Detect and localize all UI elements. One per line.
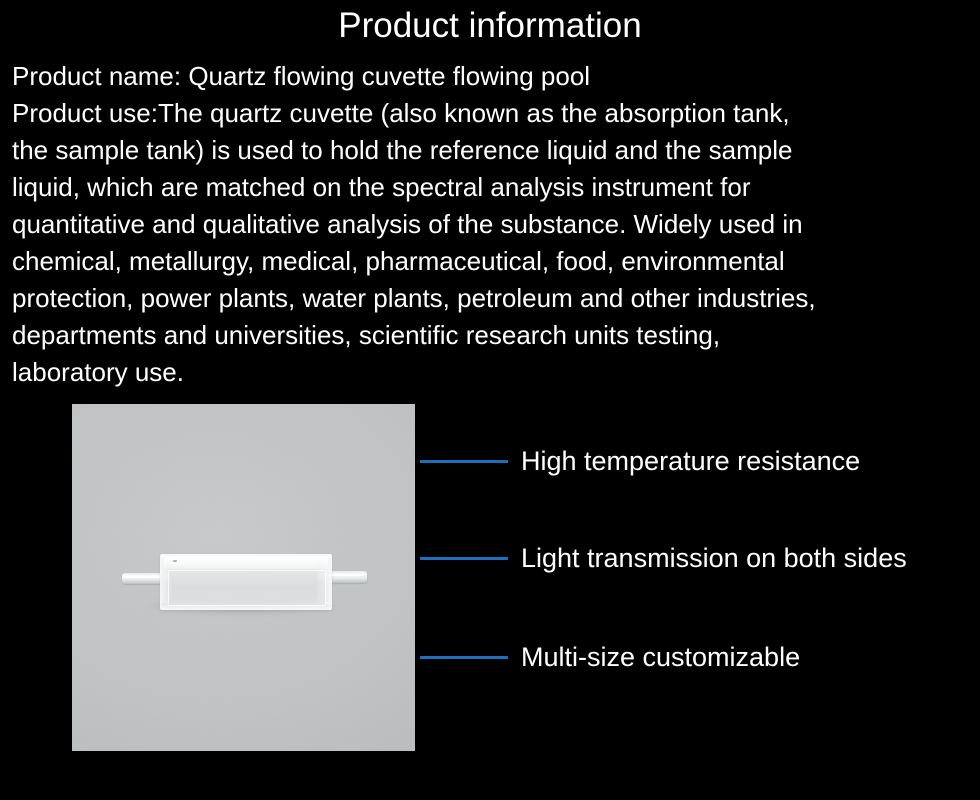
description-line: Product name: Quartz flowing cuvette flo… [12, 58, 964, 95]
product-information-page: Product information Product name: Quartz… [0, 0, 980, 800]
description-line: liquid, which are matched on the spectra… [12, 169, 964, 206]
description-line: the sample tank) is used to hold the ref… [12, 132, 964, 169]
feature-callout: Multi-size customizable [420, 637, 800, 677]
product-photo [72, 404, 415, 751]
page-title: Product information [0, 5, 980, 47]
description-line: departments and universities, scientific… [12, 317, 964, 354]
feature-callout: High temperature resistance [420, 441, 860, 481]
cuvette-body [160, 554, 332, 610]
description-line: laboratory use. [12, 354, 964, 391]
product-description: Product name: Quartz flowing cuvette flo… [12, 58, 964, 391]
callout-leader-line-icon [420, 656, 508, 659]
description-line: chemical, metallurgy, medical, pharmaceu… [12, 243, 964, 280]
description-line: protection, power plants, water plants, … [12, 280, 964, 317]
feature-label: Light transmission on both sides [521, 542, 907, 574]
cuvette-surface-speck [173, 560, 177, 562]
cuvette-top-face [164, 557, 328, 569]
callout-leader-line-icon [420, 557, 508, 560]
feature-label: High temperature resistance [521, 445, 860, 477]
callout-leader-line-icon [420, 460, 508, 463]
description-line: quantitative and qualitative analysis of… [12, 206, 964, 243]
feature-label: Multi-size customizable [521, 641, 800, 673]
cuvette-inner-chamber [168, 570, 326, 606]
description-line: Product use:The quartz cuvette (also kno… [12, 95, 964, 132]
feature-callout: Light transmission on both sides [420, 538, 907, 578]
quartz-cuvette-illustration [122, 546, 367, 616]
